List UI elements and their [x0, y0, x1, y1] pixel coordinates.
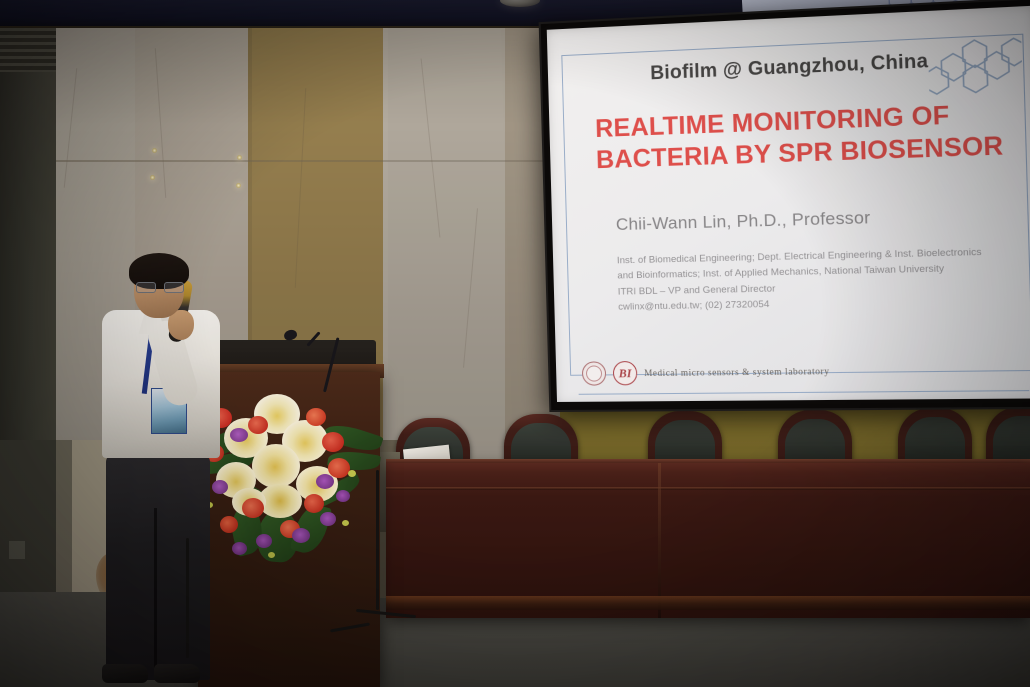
presenter-shoe	[154, 664, 200, 683]
rose-bloom	[328, 458, 350, 478]
presenter-shoe	[102, 664, 148, 683]
recessed-spotlight-icon	[150, 175, 155, 180]
recessed-spotlight-icon	[236, 183, 241, 188]
lily-bloom	[252, 444, 300, 488]
rose-bloom	[304, 494, 324, 513]
hexagon-cluster-icon	[928, 36, 1023, 105]
rose-bloom	[242, 498, 264, 518]
university-seal-icon	[582, 361, 607, 385]
presenter	[96, 258, 226, 687]
sprig	[342, 520, 349, 526]
slide-title: REALTIME MONITORING OF BACTERIA BY SPR B…	[595, 97, 1014, 175]
table-cable	[376, 470, 379, 610]
podium-cable	[186, 538, 189, 658]
sprig	[348, 470, 356, 477]
slide-footer-text: Medical micro sensors & system laborator…	[644, 366, 830, 378]
rose-bloom	[306, 408, 326, 426]
rose-bloom	[322, 432, 344, 452]
sprig	[268, 552, 275, 558]
presenter-trousers	[106, 454, 210, 680]
orchid-bloom	[336, 490, 350, 502]
orchid-bloom	[292, 528, 310, 543]
bi-monogram-icon: BI	[613, 361, 638, 385]
rose-bloom	[248, 416, 268, 434]
projection-screen[interactable]: Biofilm @ Guangzhou, China REALTIME MONI…	[539, 0, 1030, 412]
recessed-spotlight-icon	[237, 155, 242, 160]
trouser-crease	[154, 508, 157, 668]
slide-footer: BI Medical micro sensors & system labora…	[582, 356, 1025, 385]
table-seam	[658, 463, 661, 618]
wall-outlet	[8, 540, 26, 560]
orchid-bloom	[232, 542, 247, 555]
marble-seam	[52, 160, 560, 162]
orchid-bloom	[316, 474, 334, 489]
slide-footer-rule	[579, 390, 1030, 395]
orchid-bloom	[256, 534, 272, 548]
slide-presenter-name: Chii-Wann Lin, Ph.D., Professor	[616, 203, 1023, 235]
presentation-slide: Biofilm @ Guangzhou, China REALTIME MONI…	[547, 6, 1030, 402]
eyeglasses-icon	[136, 282, 182, 291]
table-groove	[386, 487, 1030, 490]
presentation-photo: Biofilm @ Guangzhou, China REALTIME MONI…	[0, 0, 1030, 687]
recessed-spotlight-icon	[152, 148, 157, 153]
table-base	[386, 596, 1030, 610]
orchid-bloom	[230, 428, 248, 442]
slide-affiliation-block: Inst. of Biomedical Engineering; Dept. E…	[617, 244, 1025, 316]
orchid-bloom	[320, 512, 336, 526]
wall-louver-vent	[0, 28, 56, 72]
